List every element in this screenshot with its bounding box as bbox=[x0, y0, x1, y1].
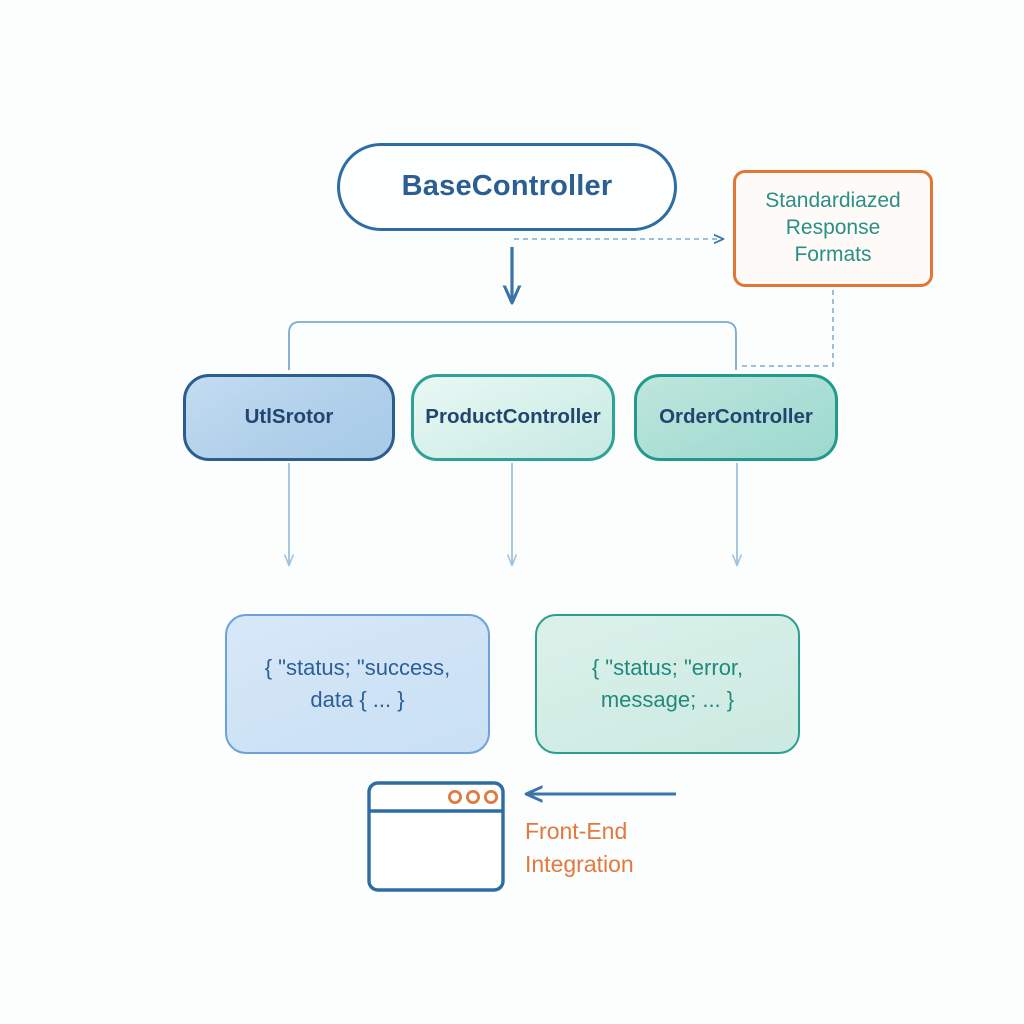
front-end-integration-line-2: Integration bbox=[525, 848, 634, 881]
node-error-response-payload[interactable]: { "status; "error, message; ... } bbox=[535, 614, 800, 754]
standardized-response-line-1: Standardiazed bbox=[765, 188, 900, 215]
node-success-response-payload[interactable]: { "status; "success, data { ... } bbox=[225, 614, 490, 754]
error-payload-line-1: { "status; "error, bbox=[592, 652, 743, 684]
success-payload-line-2: data { ... } bbox=[310, 684, 404, 716]
node-user-controller[interactable]: UtlSrotor bbox=[183, 374, 395, 461]
node-product-controller[interactable]: ProductController bbox=[411, 374, 615, 461]
error-payload-line-2: message; ... } bbox=[601, 684, 734, 716]
connector-distribution-bar bbox=[289, 322, 736, 370]
connector-standard-to-order bbox=[740, 290, 833, 366]
base-controller-label: BaseController bbox=[402, 168, 613, 205]
order-controller-label: OrderController bbox=[659, 404, 813, 430]
standardized-response-line-3: Formats bbox=[794, 242, 871, 269]
standardized-response-line-2: Response bbox=[786, 215, 881, 242]
product-controller-label: ProductController bbox=[425, 404, 600, 430]
user-controller-label: UtlSrotor bbox=[245, 404, 334, 430]
node-standardized-response-formats[interactable]: Standardiazed Response Formats bbox=[733, 170, 933, 287]
front-end-integration-label: Front-End Integration bbox=[525, 815, 634, 882]
front-end-integration-line-1: Front-End bbox=[525, 815, 634, 848]
success-payload-line-1: { "status; "success, bbox=[265, 652, 451, 684]
browser-window-icon bbox=[369, 783, 503, 890]
node-base-controller[interactable]: BaseController bbox=[337, 143, 677, 231]
node-order-controller[interactable]: OrderController bbox=[634, 374, 838, 461]
